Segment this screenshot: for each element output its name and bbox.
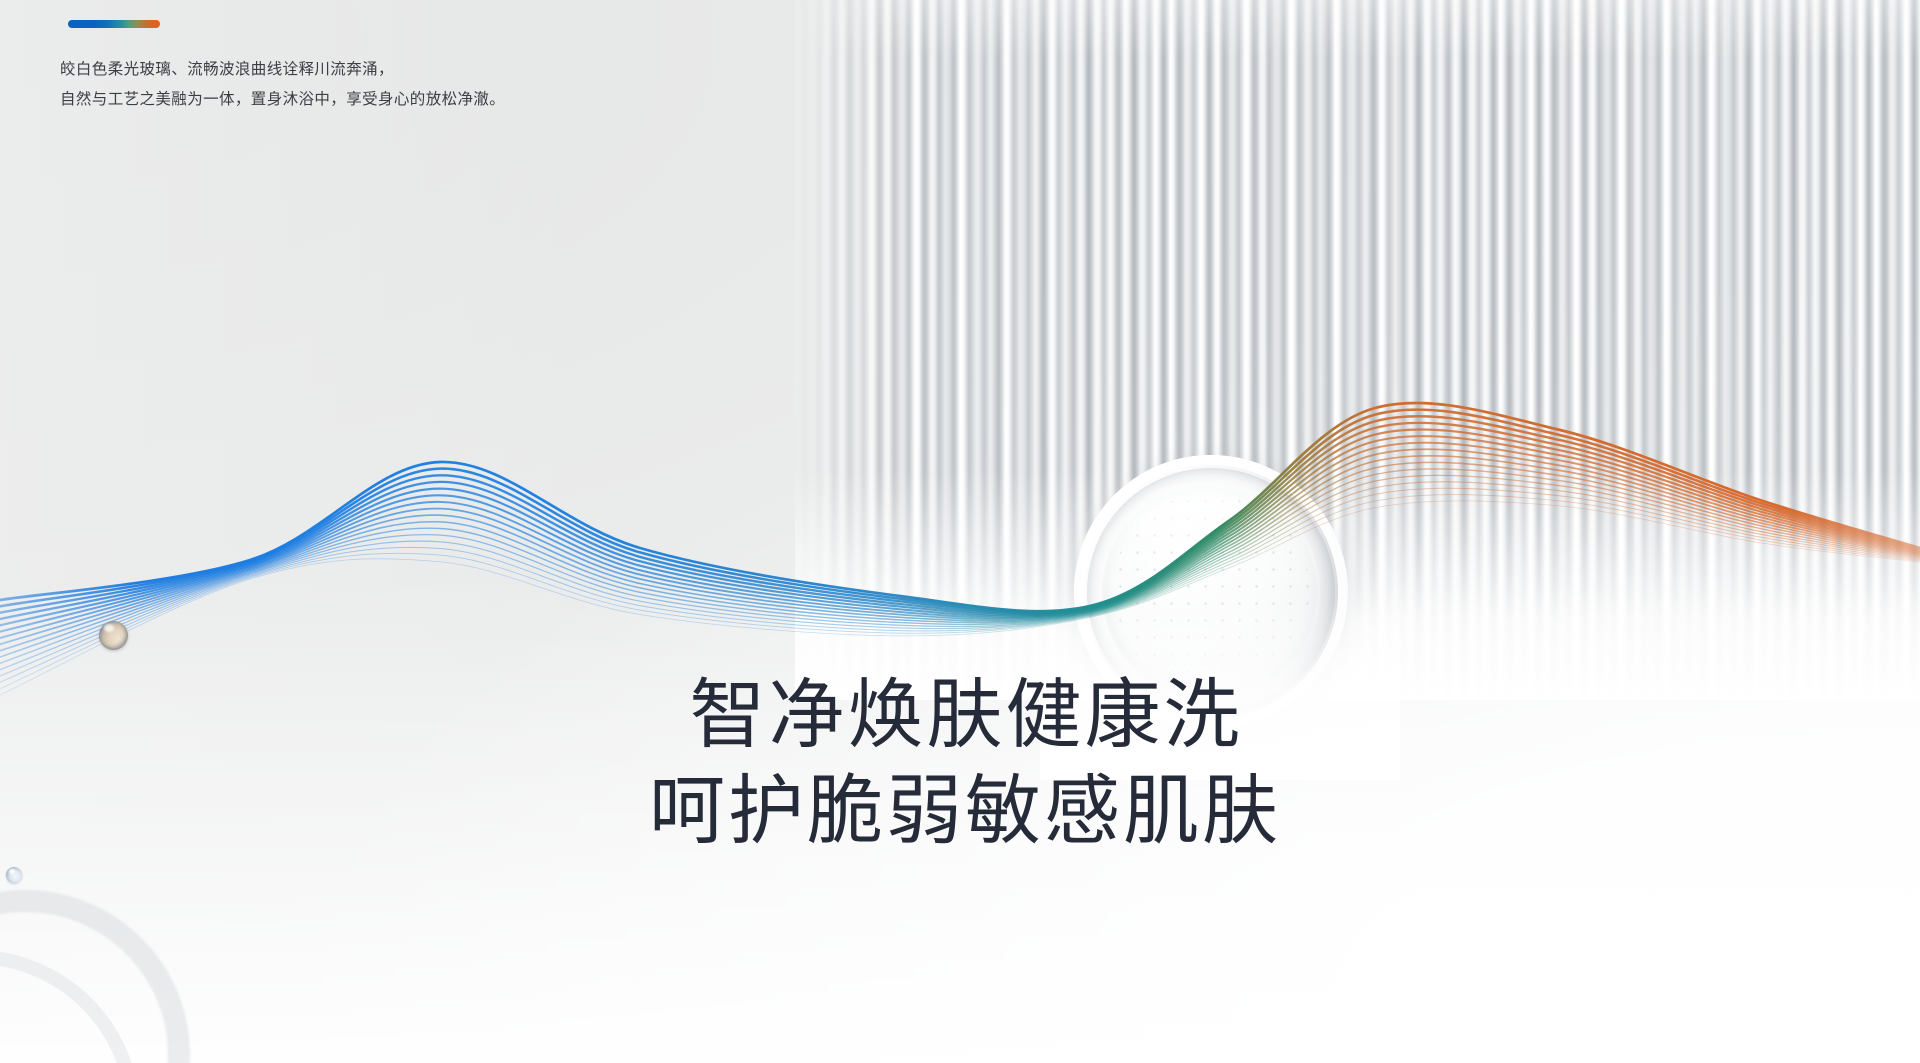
glass-top-fade	[795, 0, 1920, 60]
headline-line-1: 智净焕肤健康洗	[0, 668, 1920, 764]
water-droplet-large	[99, 621, 128, 650]
intro-line-2: 自然与工艺之美融为一体，置身沐浴中，享受身心的放松净澈。	[60, 85, 505, 115]
brand-accent-bar	[68, 20, 160, 28]
banner-canvas: 皎白色柔光玻璃、流畅波浪曲线诠释川流奔涌， 自然与工艺之美融为一体，置身沐浴中，…	[0, 0, 1920, 1063]
intro-copy: 皎白色柔光玻璃、流畅波浪曲线诠释川流奔涌， 自然与工艺之美融为一体，置身沐浴中，…	[60, 55, 505, 115]
headline-line-2: 呵护脆弱敏感肌肤	[0, 764, 1920, 860]
intro-line-1: 皎白色柔光玻璃、流畅波浪曲线诠释川流奔涌，	[60, 55, 505, 85]
shower-head-highlight	[1133, 496, 1268, 566]
headline: 智净焕肤健康洗 呵护脆弱敏感肌肤	[0, 668, 1920, 860]
water-droplet-small	[6, 867, 22, 883]
